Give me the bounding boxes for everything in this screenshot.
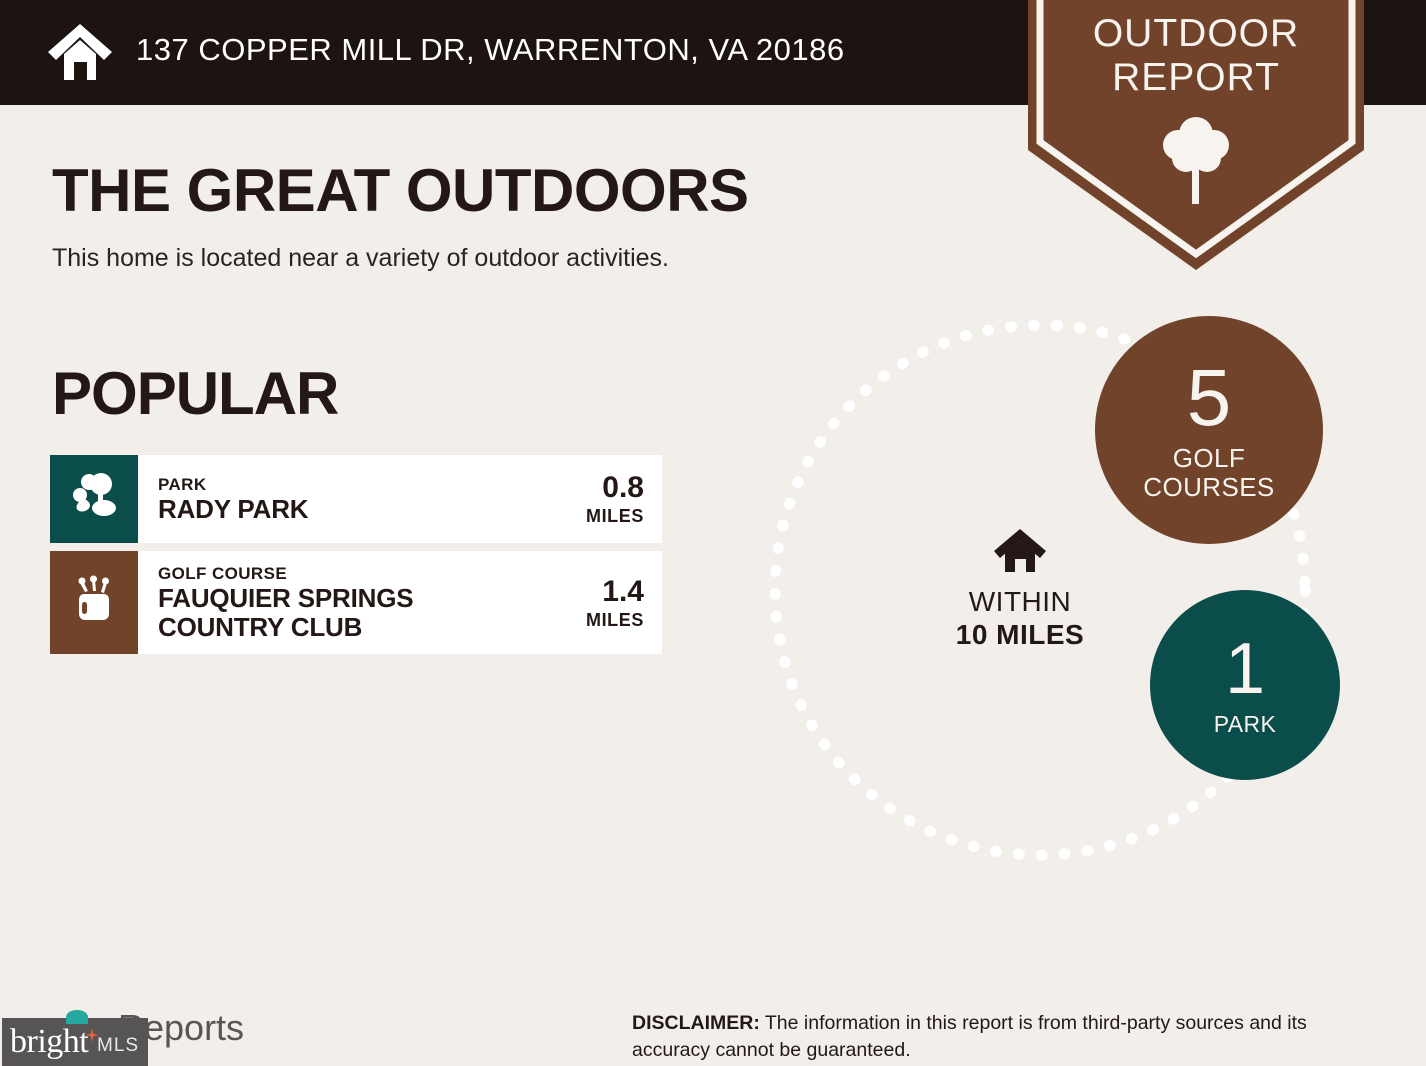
popular-heading: POPULAR [52, 358, 338, 430]
poi-icon-box [50, 455, 138, 543]
poi-text: PARK RADY PARK [138, 455, 526, 543]
home-icon [44, 16, 116, 88]
poi-text: GOLF COURSE FAUQUIER SPRINGS COUNTRY CLU… [138, 551, 526, 654]
badge-line-2: REPORT [1028, 56, 1364, 100]
stat-label-line1: GOLF [1143, 444, 1274, 473]
tree-icon [1158, 112, 1234, 208]
poi-distance-value: 1.4 [602, 575, 644, 609]
disclaimer: DISCLAIMER: The information in this repo… [632, 1010, 1372, 1064]
golf-bag-icon [68, 574, 120, 631]
brightmls-sub-label: MLS [97, 1034, 139, 1058]
home-icon [992, 525, 1048, 575]
property-address: 137 COPPER MILL DR, WARRENTON, VA 20186 [136, 24, 845, 76]
brightmls-wordmark: bright [10, 1022, 88, 1062]
stat-circle-golf-courses: 5 GOLF COURSES [1095, 316, 1323, 544]
brightmls-logo: bright MLS [2, 1018, 148, 1066]
disclaimer-label: DISCLAIMER: [632, 1012, 760, 1034]
radius-center-group: WITHIN 10 MILES [920, 525, 1120, 652]
list-item[interactable]: GOLF COURSE FAUQUIER SPRINGS COUNTRY CLU… [50, 551, 662, 654]
stat-label: GOLF COURSES [1143, 444, 1274, 502]
radius-label-line1: WITHIN [920, 585, 1120, 618]
poi-name: RADY PARK [158, 495, 526, 524]
radius-label-line2: 10 MILES [920, 618, 1120, 652]
stat-value: 5 [1187, 358, 1232, 438]
poi-distance-unit: MILES [586, 609, 644, 631]
page-title: THE GREAT OUTDOORS [52, 155, 749, 227]
outdoor-report-page: 137 COPPER MILL DR, WARRENTON, VA 20186 … [0, 0, 1426, 1066]
park-trees-icon [68, 471, 120, 528]
stat-label-line2: COURSES [1143, 473, 1274, 502]
stat-value: 1 [1225, 633, 1265, 705]
poi-category: GOLF COURSE [158, 563, 526, 584]
poi-icon-box [50, 551, 138, 654]
poi-distance-unit: MILES [586, 505, 644, 527]
popular-list: PARK RADY PARK 0.8 MILES [50, 455, 662, 662]
poi-distance-value: 0.8 [602, 471, 644, 505]
stat-circle-parks: 1 PARK [1150, 590, 1340, 780]
poi-name: FAUQUIER SPRINGS COUNTRY CLUB [158, 584, 526, 642]
poi-distance: 1.4 MILES [526, 551, 662, 654]
stat-label: PARK [1214, 711, 1277, 737]
outdoor-report-badge: OUTDOOR REPORT [1028, 0, 1364, 270]
badge-line-1: OUTDOOR [1028, 12, 1364, 56]
stat-label-line1: PARK [1214, 711, 1277, 737]
poi-category: PARK [158, 474, 526, 495]
radius-diagram: WITHIN 10 MILES 5 GOLF COURSES 1 PARK [740, 300, 1380, 920]
list-item[interactable]: PARK RADY PARK 0.8 MILES [50, 455, 662, 543]
poi-distance: 0.8 MILES [526, 455, 662, 543]
page-subtitle: This home is located near a variety of o… [52, 240, 669, 276]
